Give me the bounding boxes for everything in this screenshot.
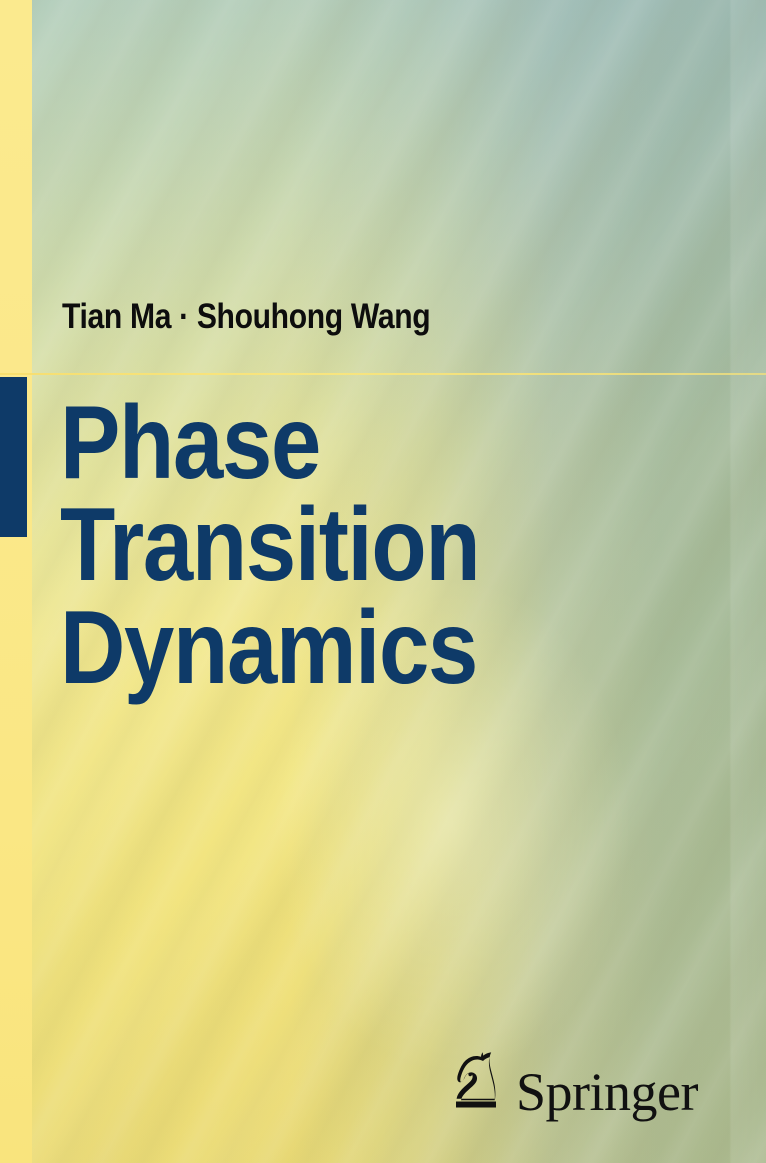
left-yellow-strip [0, 0, 32, 1163]
gold-divider-rule [0, 373, 766, 375]
title-line-1: Phase [60, 392, 479, 494]
navy-accent-block [0, 377, 27, 537]
publisher-logo: Springer [452, 1050, 698, 1112]
springer-knight-icon [452, 1050, 504, 1112]
book-cover: Tian Ma · Shouhong Wang Phase Transition… [0, 0, 766, 1163]
springer-wordmark: Springer [516, 1068, 698, 1117]
author-names: Tian Ma · Shouhong Wang [62, 297, 430, 337]
title-line-2: Transition [60, 494, 479, 596]
title-line-3: Dynamics [60, 597, 479, 699]
book-title: Phase Transition Dynamics [60, 392, 479, 699]
